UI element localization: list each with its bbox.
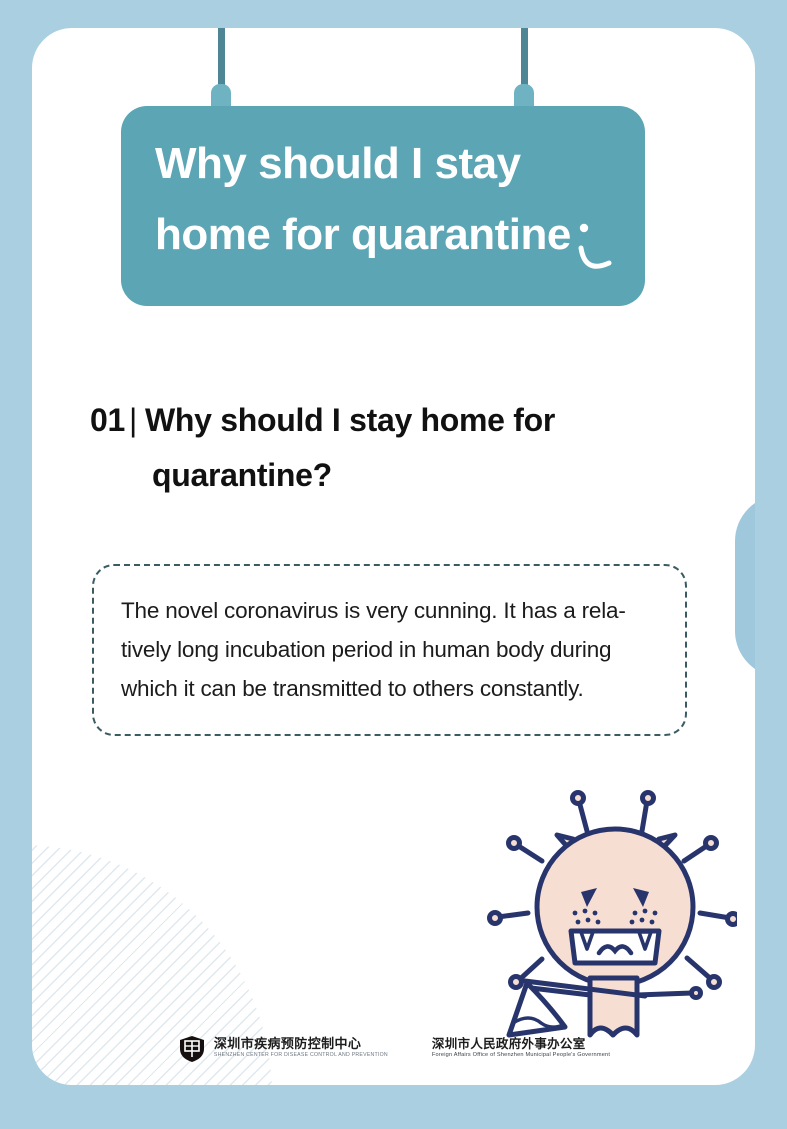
angry-coronavirus-mascot-with-axe: [487, 783, 737, 1048]
fao-name-en: Foreign Affairs Office of Shenzhen Munic…: [432, 1052, 610, 1060]
question-number: 01: [90, 402, 125, 438]
smiley-face-icon: [575, 218, 621, 284]
question-divider: |: [129, 402, 137, 438]
fao-name-group: 深圳市人民政府外事办公室 Foreign Affairs Office of S…: [432, 1037, 610, 1060]
banner-title-line-1: Why should I stay: [155, 139, 521, 188]
answer-box: The novel coronavirus is very cunning. I…: [92, 564, 687, 736]
banner-plate: Why should I stay home for quarantine: [121, 106, 645, 306]
banner-title: Why should I stay home for quarantine: [155, 128, 611, 271]
question-text-line-2: quarantine?: [90, 448, 690, 503]
question-heading: 01|Why should I stay home for quarantine…: [90, 393, 690, 503]
cdc-name-block: 深圳市疾病预防控制中心 SHENZHEN CENTER FOR DISEASE …: [214, 1037, 388, 1059]
poster-card: Why should I stay home for quarantine 01…: [32, 28, 755, 1085]
cdc-name-en: SHENZHEN CENTER FOR DISEASE CONTROL AND …: [214, 1052, 388, 1059]
answer-line-2: tively long incubation period in human b…: [121, 631, 659, 670]
side-index-tab[interactable]: 01: [735, 495, 755, 677]
answer-line-1: The novel coronavirus is very cunning. I…: [121, 592, 659, 631]
question-text-line-1: Why should I stay home for: [145, 402, 555, 438]
fao-name-cn: 深圳市人民政府外事办公室: [432, 1037, 610, 1052]
shenzhen-cdc-shield-logo-icon: [177, 1033, 207, 1063]
cdc-logo-group: 深圳市疾病预防控制中心 SHENZHEN CENTER FOR DISEASE …: [177, 1033, 388, 1063]
hanging-banner: Why should I stay home for quarantine: [32, 28, 755, 328]
footer: 深圳市疾病预防控制中心 SHENZHEN CENTER FOR DISEASE …: [32, 1033, 755, 1063]
fao-name-block: 深圳市人民政府外事办公室 Foreign Affairs Office of S…: [432, 1037, 610, 1060]
cdc-name-cn: 深圳市疾病预防控制中心: [214, 1037, 388, 1052]
answer-text: The novel coronavirus is very cunning. I…: [121, 592, 659, 709]
banner-title-line-2: home for quarantine: [155, 199, 611, 270]
answer-line-3: which it can be transmitted to others co…: [121, 670, 659, 709]
